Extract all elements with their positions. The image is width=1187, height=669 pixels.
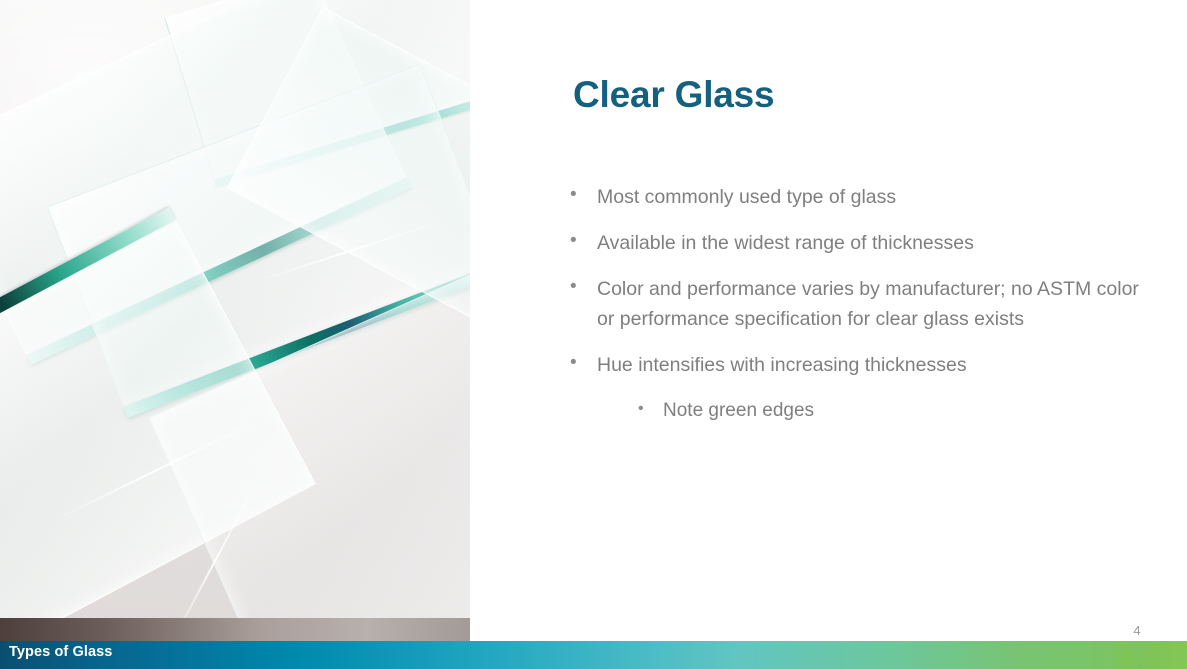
presentation-slide: Clear Glass • Most commonly used type of…	[0, 0, 1187, 669]
list-item-text: Hue intensifies with increasing thicknes…	[597, 350, 1150, 380]
list-item-text: Note green edges	[663, 396, 1150, 426]
list-item-text: Color and performance varies by manufact…	[597, 274, 1150, 334]
list-item-sub: • Note green edges	[638, 396, 1150, 426]
bullet-icon: •	[638, 396, 663, 422]
footer-section-title: Types of Glass	[9, 644, 112, 660]
bullet-icon: •	[570, 182, 597, 208]
list-item-text: Most commonly used type of glass	[597, 182, 1150, 212]
list-item: • Hue intensifies with increasing thickn…	[570, 350, 1150, 380]
page-title: Clear Glass	[573, 74, 774, 116]
bullet-list: • Most commonly used type of glass • Ava…	[570, 182, 1150, 426]
footer-bar	[0, 641, 1187, 669]
bullet-icon: •	[570, 228, 597, 254]
list-item: • Most commonly used type of glass	[570, 182, 1150, 212]
photo-bottom-strip	[0, 618, 470, 641]
footer-green-chevron	[1113, 620, 1187, 669]
list-item-text: Available in the widest range of thickne…	[597, 228, 1150, 258]
list-item: • Available in the widest range of thick…	[570, 228, 1150, 258]
slide-content: Clear Glass • Most commonly used type of…	[470, 0, 1187, 641]
bullet-icon: •	[570, 350, 597, 376]
glass-photo	[0, 0, 470, 641]
list-item: • Color and performance varies by manufa…	[570, 274, 1150, 334]
bullet-icon: •	[570, 274, 597, 300]
slide-number: 4	[1128, 623, 1146, 638]
